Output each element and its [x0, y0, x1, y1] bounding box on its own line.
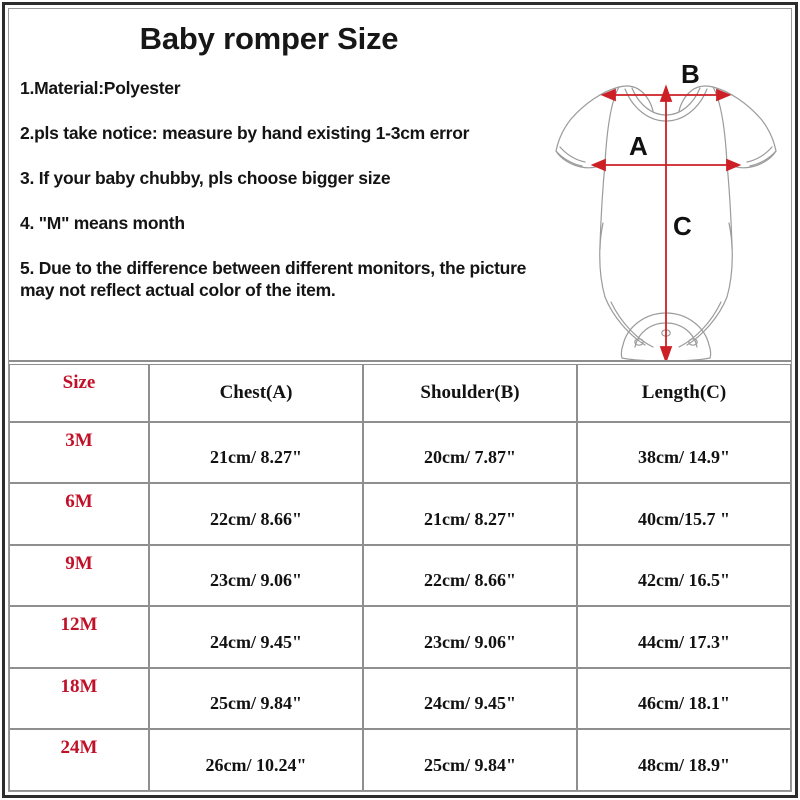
info-panel: Baby romper Size 1.Material:Polyester 2.… — [9, 9, 791, 362]
note-item: 3. If your baby chubby, pls choose bigge… — [20, 167, 535, 189]
cell-chest: 26cm/ 10.24" — [149, 729, 363, 791]
cell-shoulder: 24cm/ 9.45" — [363, 668, 577, 730]
chest-value: 23cm/ 9.06" — [150, 570, 362, 591]
chest-label: A — [629, 131, 648, 161]
shoulder-value: 24cm/ 9.45" — [364, 693, 576, 714]
length-value: 42cm/ 16.5" — [578, 570, 790, 591]
chest-arrow-left — [593, 160, 605, 170]
length-value: 44cm/ 17.3" — [578, 632, 790, 653]
shoulder-value: 23cm/ 9.06" — [364, 632, 576, 653]
cell-size: 18M — [9, 668, 149, 730]
table-row: 24M 26cm/ 10.24" 25cm/ 9.84" 48cm/ 18.9" — [9, 729, 791, 791]
cell-chest: 21cm/ 8.27" — [149, 422, 363, 484]
header-cell-shoulder: Shoulder(B) — [363, 364, 577, 422]
cell-shoulder: 23cm/ 9.06" — [363, 606, 577, 668]
size-chart-page: Baby romper Size 1.Material:Polyester 2.… — [0, 0, 800, 800]
cell-shoulder: 22cm/ 8.66" — [363, 545, 577, 607]
header-cell-length: Length(C) — [577, 364, 791, 422]
chest-value: 25cm/ 9.84" — [150, 693, 362, 714]
header-size-label: Size — [10, 372, 148, 394]
length-label: C — [673, 211, 692, 241]
size-label: 18M — [10, 676, 148, 698]
table-row: 9M 23cm/ 9.06" 22cm/ 8.66" 42cm/ 16.5" — [9, 545, 791, 607]
note-item: 5. Due to the difference between differe… — [20, 257, 535, 301]
length-value: 40cm/15.7 " — [578, 509, 790, 530]
size-label: 24M — [10, 737, 148, 759]
cell-length: 44cm/ 17.3" — [577, 606, 791, 668]
size-label: 12M — [10, 614, 148, 636]
header-cell-size: Size — [9, 364, 149, 422]
shoulder-value: 22cm/ 8.66" — [364, 570, 576, 591]
length-value: 38cm/ 14.9" — [578, 447, 790, 468]
cell-size: 9M — [9, 545, 149, 607]
header-length-label: Length(C) — [642, 382, 726, 403]
length-arrow-top — [661, 87, 671, 101]
cell-shoulder: 21cm/ 8.27" — [363, 483, 577, 545]
cell-length: 46cm/ 18.1" — [577, 668, 791, 730]
size-label: 6M — [10, 491, 148, 513]
cell-length: 38cm/ 14.9" — [577, 422, 791, 484]
header-shoulder-label: Shoulder(B) — [420, 382, 519, 403]
size-label: 3M — [10, 430, 148, 452]
cell-size: 24M — [9, 729, 149, 791]
cell-chest: 22cm/ 8.66" — [149, 483, 363, 545]
header-cell-chest: Chest(A) — [149, 364, 363, 422]
chest-value: 24cm/ 9.45" — [150, 632, 362, 653]
length-value: 48cm/ 18.9" — [578, 755, 790, 776]
header-chest-label: Chest(A) — [220, 382, 293, 403]
chest-arrow-right — [727, 160, 739, 170]
cell-size: 3M — [9, 422, 149, 484]
chest-value: 26cm/ 10.24" — [150, 755, 362, 776]
chest-value: 21cm/ 8.27" — [150, 447, 362, 468]
notes-list: 1.Material:Polyester 2.pls take notice: … — [20, 77, 535, 301]
cell-length: 40cm/15.7 " — [577, 483, 791, 545]
note-item: 4. "M" means month — [20, 212, 535, 234]
note-item: 1.Material:Polyester — [20, 77, 535, 99]
shoulder-value: 20cm/ 7.87" — [364, 447, 576, 468]
shoulder-arrow-right — [717, 90, 729, 100]
cell-chest: 25cm/ 9.84" — [149, 668, 363, 730]
romper-diagram: B A C — [541, 55, 791, 362]
note-item: 2.pls take notice: measure by hand exist… — [20, 122, 535, 144]
table-header-row: Size Chest(A) Shoulder(B) Length(C) — [9, 364, 791, 422]
size-chart-table: Size Chest(A) Shoulder(B) Length(C) 3M 2… — [9, 364, 791, 791]
size-label: 9M — [10, 553, 148, 575]
cell-length: 42cm/ 16.5" — [577, 545, 791, 607]
shoulder-arrow-left — [603, 90, 615, 100]
length-arrow-bottom — [661, 347, 671, 361]
table-row: 18M 25cm/ 9.84" 24cm/ 9.45" 46cm/ 18.1" — [9, 668, 791, 730]
shoulder-value: 25cm/ 9.84" — [364, 755, 576, 776]
page-title: Baby romper Size — [9, 21, 529, 57]
cell-length: 48cm/ 18.9" — [577, 729, 791, 791]
table-row: 12M 24cm/ 9.45" 23cm/ 9.06" 44cm/ 17.3" — [9, 606, 791, 668]
cell-chest: 24cm/ 9.45" — [149, 606, 363, 668]
shoulder-label: B — [681, 59, 700, 89]
chest-value: 22cm/ 8.66" — [150, 509, 362, 530]
table-row: 6M 22cm/ 8.66" 21cm/ 8.27" 40cm/15.7 " — [9, 483, 791, 545]
cell-size: 6M — [9, 483, 149, 545]
shoulder-value: 21cm/ 8.27" — [364, 509, 576, 530]
table-row: 3M 21cm/ 8.27" 20cm/ 7.87" 38cm/ 14.9" — [9, 422, 791, 484]
cell-size: 12M — [9, 606, 149, 668]
cell-chest: 23cm/ 9.06" — [149, 545, 363, 607]
cell-shoulder: 20cm/ 7.87" — [363, 422, 577, 484]
length-value: 46cm/ 18.1" — [578, 693, 790, 714]
cell-shoulder: 25cm/ 9.84" — [363, 729, 577, 791]
